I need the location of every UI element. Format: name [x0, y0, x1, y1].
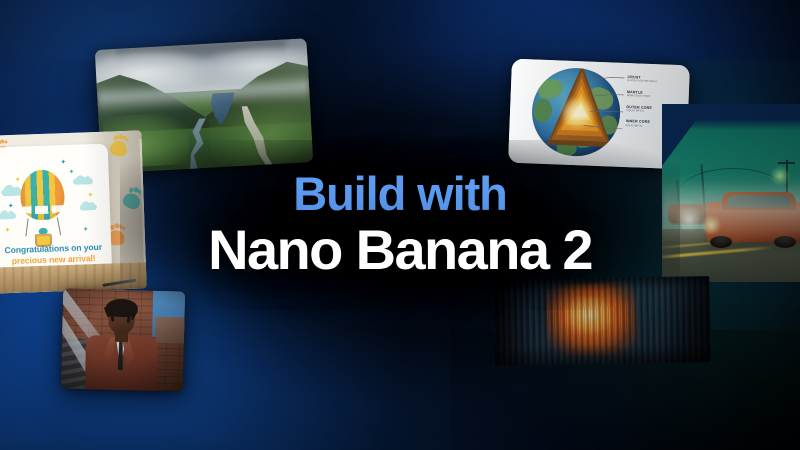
background-corner-fade	[0, 0, 800, 450]
promo-banner: ✦ ✦ ✦ ✦ ✦ ✦ ✦ Congratulations on your pr…	[0, 0, 800, 450]
